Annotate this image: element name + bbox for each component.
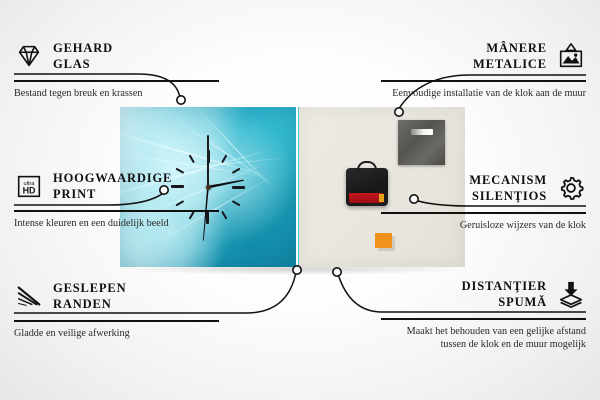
callout-title: MECANISMSILENŢIOS (469, 172, 547, 204)
ultra-hd-icon: ultra HD (14, 171, 44, 201)
hanger-loop (357, 161, 377, 173)
callout-gehard-glas: GEHARDGLAS Bestand tegen breuk en krasse… (14, 36, 219, 100)
diamond-icon (14, 41, 44, 71)
callout-title: GEHARDGLAS (53, 40, 113, 72)
hanger-slot (411, 129, 433, 135)
callout-header: GESLEPENRANDEN (14, 276, 219, 316)
bevelled-edges-icon (14, 281, 44, 311)
callout-manere-metalice: MÂNEREMETALICE Eenvoudige installatie va… (381, 36, 586, 100)
callout-title: GESLEPENRANDEN (53, 280, 127, 312)
callout-header: GEHARDGLAS (14, 36, 219, 76)
callout-header: MECANISMSILENŢIOS (381, 168, 586, 208)
callout-rule (14, 320, 219, 322)
callout-header: DISTANŢIERSPUMĂ (381, 274, 586, 314)
callout-subtitle: Bestand tegen breuk en krassen (14, 87, 219, 101)
callout-rule (381, 318, 586, 320)
callout-rule (14, 80, 219, 82)
spacer-layers-icon (556, 279, 586, 309)
callout-subtitle: Eenvoudige installatie van de klok aan d… (381, 87, 586, 101)
foam-spacer (375, 233, 392, 248)
battery (349, 193, 383, 203)
callout-header: MÂNEREMETALICE (381, 36, 586, 76)
callout-hoogwaardige-print: ultra HD HOOGWAARDIGEPRINT Intense kleur… (14, 166, 219, 230)
callout-distantier-spuma: DISTANŢIERSPUMĂ Maakt het behouden van e… (381, 274, 586, 352)
callout-mecanism-silentios: MECANISMSILENŢIOS Geruisloze wijzers van… (381, 168, 586, 232)
callout-title: HOOGWAARDIGEPRINT (53, 170, 172, 202)
metal-hanger-plate (398, 120, 445, 165)
callout-subtitle: Intense kleuren en een duidelijk beeld (14, 217, 219, 231)
callout-subtitle: Gladde en veilige afwerking (14, 327, 219, 341)
callout-header: ultra HD HOOGWAARDIGEPRINT (14, 166, 219, 206)
callout-title: DISTANŢIERSPUMĂ (462, 278, 547, 310)
callout-geslepen-randen: GESLEPENRANDEN Gladde en veilige afwerki… (14, 276, 219, 340)
callout-rule (381, 212, 586, 214)
callout-subtitle: Geruisloze wijzers van de klok (381, 219, 586, 233)
callout-rule (14, 210, 219, 212)
framed-picture-icon (556, 41, 586, 71)
callout-rule (381, 80, 586, 82)
callout-title: MÂNEREMETALICE (473, 40, 547, 72)
hd-label: HD (23, 186, 36, 196)
gear-icon (556, 173, 586, 203)
glass-edge (298, 107, 299, 267)
callout-subtitle: Maakt het behouden van een gelijke afsta… (381, 325, 586, 353)
